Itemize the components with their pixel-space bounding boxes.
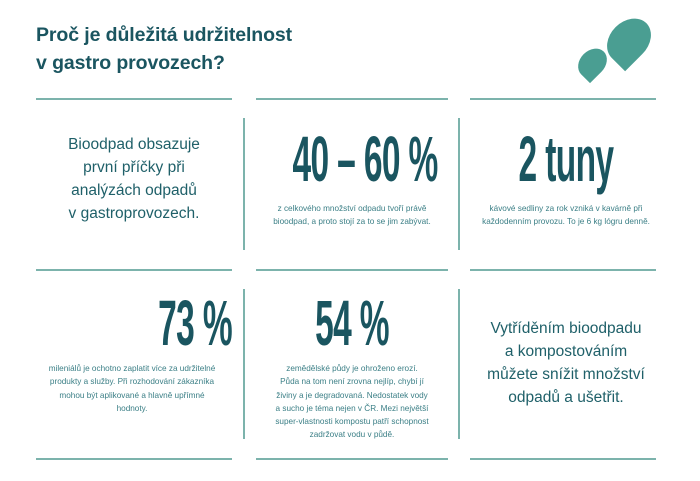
divider-vertical-left-bottom — [243, 289, 245, 439]
stat-value: 2 tuny — [506, 128, 625, 192]
divider-vertical-left-top — [243, 118, 245, 250]
cell-stat-40-60-percent: 40 – 60 % z celkového množství odpadu tv… — [256, 128, 448, 229]
divider-mid-col1 — [36, 269, 232, 271]
divider-top-col1 — [36, 98, 232, 100]
stat-caption: kávové sedliny za rok vzniká v kavárně p… — [470, 202, 662, 229]
divider-mid-col3 — [470, 269, 656, 271]
divider-mid-col2 — [256, 269, 448, 271]
divider-bottom-col3 — [470, 458, 656, 460]
cell-statement-text: Bioodpad obsazuje první příčky při analý… — [36, 134, 232, 226]
divider-vertical-right-top — [458, 118, 460, 250]
cell-stat-2-tuny: 2 tuny kávové sedliny za rok vzniká v ka… — [470, 128, 662, 229]
stat-caption: z celkového množství odpadu tvoří právě … — [256, 202, 448, 229]
divider-vertical-right-bottom — [458, 289, 460, 439]
cell-stat-73-percent: 73 % mileniálů je ochotno zaplatit více … — [32, 292, 232, 415]
divider-bottom-col1 — [36, 458, 232, 460]
cell-statement-text: Vytříděním bioodpadu a kompostováním můž… — [466, 318, 666, 410]
stat-value: 73 % — [108, 292, 232, 356]
stat-caption: zemědělské půdy je ohroženo erozí. Půda … — [254, 362, 450, 442]
divider-top-col2 — [256, 98, 448, 100]
cell-statement-kompostovani: Vytříděním bioodpadu a kompostováním můž… — [466, 318, 666, 410]
stat-caption: mileniálů je ochotno zaplatit více za ud… — [32, 362, 232, 415]
stat-value: 40 – 60 % — [292, 128, 411, 192]
cell-statement-bioodpad: Bioodpad obsazuje první příčky při analý… — [36, 134, 232, 226]
infographic-poster: Proč je důležitá udržitelnost v gastro p… — [0, 0, 700, 481]
divider-bottom-col2 — [256, 458, 448, 460]
stat-value: 54 % — [291, 292, 413, 356]
divider-top-col3 — [470, 98, 656, 100]
cell-stat-54-percent: 54 % zemědělské půdy je ohroženo erozí. … — [254, 292, 450, 442]
